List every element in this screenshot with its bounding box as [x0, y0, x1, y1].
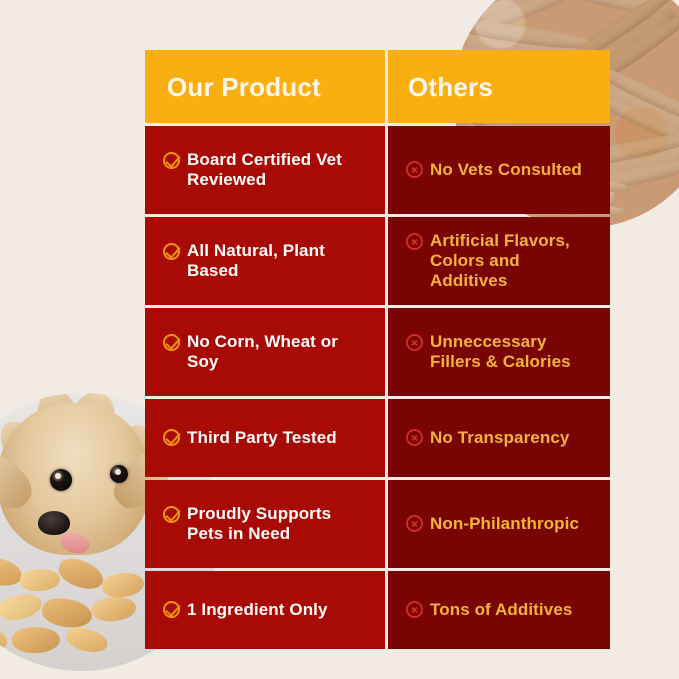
check-circle-icon — [163, 243, 180, 260]
infographic-canvas: Our Product Others Board Certified Vet R… — [0, 0, 679, 679]
check-circle-icon — [163, 429, 180, 446]
ours-cell-5: Proudly Supports Pets in Need — [145, 480, 385, 568]
ours-cell-2: All Natural, Plant Based — [145, 217, 385, 305]
x-circle-icon — [406, 161, 423, 178]
x-circle-icon — [406, 233, 423, 250]
others-cell-6: Tons of Additives — [388, 571, 610, 649]
others-cell-1: No Vets Consulted — [388, 126, 610, 214]
comparison-table: Our Product Others Board Certified Vet R… — [145, 50, 610, 655]
x-circle-icon — [406, 515, 423, 532]
others-cell-3: Unneccessary Fillers & Calories — [388, 308, 610, 396]
others-cell-2: Artificial Flavors, Colors and Additives — [388, 217, 610, 305]
others-label-5: Non-Philanthropic — [430, 514, 579, 534]
ours-label-4: Third Party Tested — [187, 428, 337, 448]
x-circle-icon — [406, 334, 423, 351]
x-circle-icon — [406, 429, 423, 446]
x-circle-icon — [406, 601, 423, 618]
others-label-3: Unneccessary Fillers & Calories — [430, 332, 596, 372]
others-heading: Others — [408, 74, 493, 100]
table-row: All Natural, Plant Based Artificial Flav… — [145, 217, 610, 305]
table-row: Third Party Tested No Transparency — [145, 399, 610, 477]
table-row: No Corn, Wheat or Soy Unneccessary Fille… — [145, 308, 610, 396]
others-label-1: No Vets Consulted — [430, 160, 582, 180]
ours-cell-1: Board Certified Vet Reviewed — [145, 126, 385, 214]
others-cell-4: No Transparency — [388, 399, 610, 477]
our-product-heading: Our Product — [167, 74, 321, 100]
table-row: Board Certified Vet Reviewed No Vets Con… — [145, 126, 610, 214]
ours-label-1: Board Certified Vet Reviewed — [187, 150, 371, 190]
others-label-4: No Transparency — [430, 428, 569, 448]
table-header-row: Our Product Others — [145, 50, 610, 123]
check-circle-icon — [163, 601, 180, 618]
table-row: Proudly Supports Pets in Need Non-Philan… — [145, 480, 610, 568]
header-cell-others: Others — [388, 50, 610, 123]
ours-label-3: No Corn, Wheat or Soy — [187, 332, 371, 372]
ours-label-6: 1 Ingredient Only — [187, 600, 328, 620]
ours-cell-6: 1 Ingredient Only — [145, 571, 385, 649]
check-circle-icon — [163, 506, 180, 523]
ours-label-5: Proudly Supports Pets in Need — [187, 504, 371, 544]
ours-cell-3: No Corn, Wheat or Soy — [145, 308, 385, 396]
others-label-2: Artificial Flavors, Colors and Additives — [430, 231, 596, 291]
check-circle-icon — [163, 152, 180, 169]
ours-cell-4: Third Party Tested — [145, 399, 385, 477]
others-label-6: Tons of Additives — [430, 600, 572, 620]
table-row: 1 Ingredient Only Tons of Additives — [145, 571, 610, 649]
check-circle-icon — [163, 334, 180, 351]
others-cell-5: Non-Philanthropic — [388, 480, 610, 568]
ours-label-2: All Natural, Plant Based — [187, 241, 371, 281]
header-cell-our-product: Our Product — [145, 50, 385, 123]
